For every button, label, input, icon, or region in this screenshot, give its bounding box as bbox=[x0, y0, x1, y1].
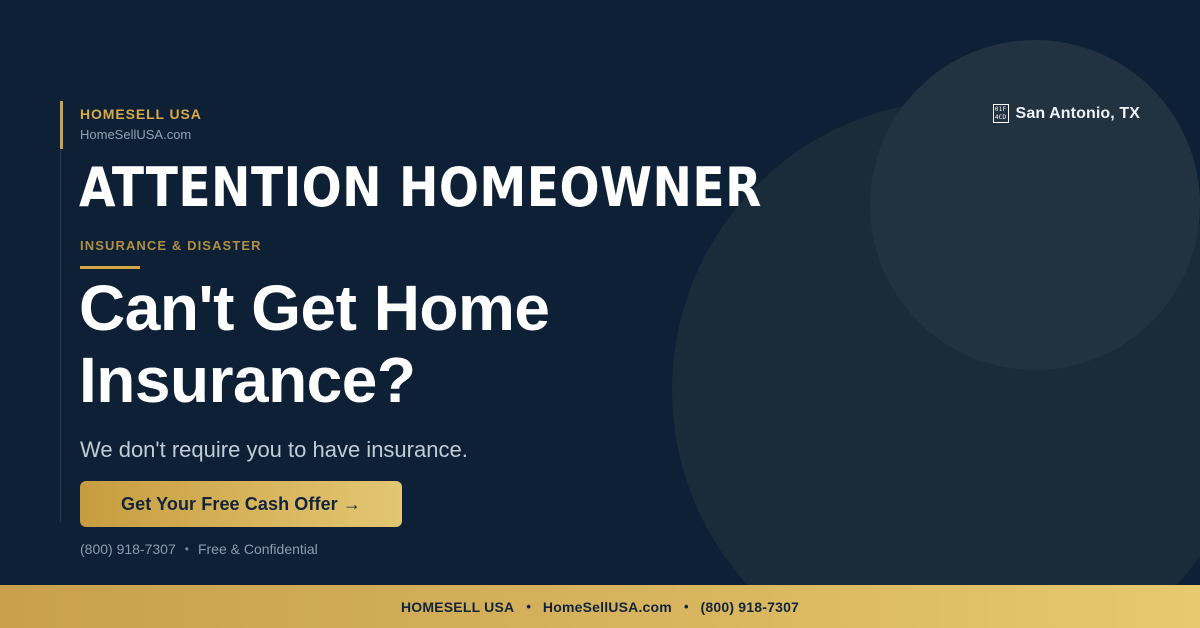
contact-phone[interactable]: (800) 918-7307 bbox=[80, 541, 176, 557]
footer-website[interactable]: HomeSellUSA.com bbox=[543, 599, 672, 615]
brand-block: HOMESELL USA HomeSellUSA.com bbox=[80, 106, 202, 142]
get-free-cash-offer-button[interactable]: Get Your Free Cash Offer → bbox=[80, 481, 402, 527]
eyebrow-underline bbox=[80, 266, 140, 269]
page-title: Can't Get Home Insurance? bbox=[79, 272, 719, 416]
contact-separator: • bbox=[185, 542, 189, 556]
brand-name: HOMESELL USA bbox=[80, 106, 202, 123]
footer-brand: HOMESELL USA bbox=[401, 599, 514, 615]
hero-stage: HOMESELL USA HomeSellUSA.com 01F 4CD San… bbox=[0, 0, 1200, 628]
contact-note: Free & Confidential bbox=[198, 541, 318, 557]
eyebrow-label: INSURANCE & DISASTER bbox=[80, 238, 262, 254]
attention-heading: ATTENTION HOMEOWNER bbox=[79, 160, 762, 217]
location-badge: 01F 4CD San Antonio, TX bbox=[993, 104, 1140, 123]
hero-subtitle: We don't require you to have insurance. bbox=[80, 436, 468, 465]
eyebrow-block: INSURANCE & DISASTER bbox=[80, 238, 262, 269]
location-label: San Antonio, TX bbox=[1016, 105, 1140, 123]
brand-accent-bar bbox=[60, 101, 63, 149]
footer-bar: HOMESELL USA • HomeSellUSA.com • (800) 9… bbox=[0, 585, 1200, 628]
footer-separator-one: • bbox=[526, 599, 531, 614]
contact-line: (800) 918-7307 • Free & Confidential bbox=[80, 541, 318, 557]
left-vertical-rule bbox=[60, 150, 61, 522]
footer-phone[interactable]: (800) 918-7307 bbox=[701, 599, 800, 615]
pin-icon-codepoint-top: 01F bbox=[994, 106, 1008, 114]
pin-icon-codepoint-bottom: 4CD bbox=[994, 114, 1008, 122]
brand-website: HomeSellUSA.com bbox=[80, 127, 202, 143]
footer-separator-two: • bbox=[684, 599, 689, 614]
location-pin-icon: 01F 4CD bbox=[993, 104, 1009, 123]
